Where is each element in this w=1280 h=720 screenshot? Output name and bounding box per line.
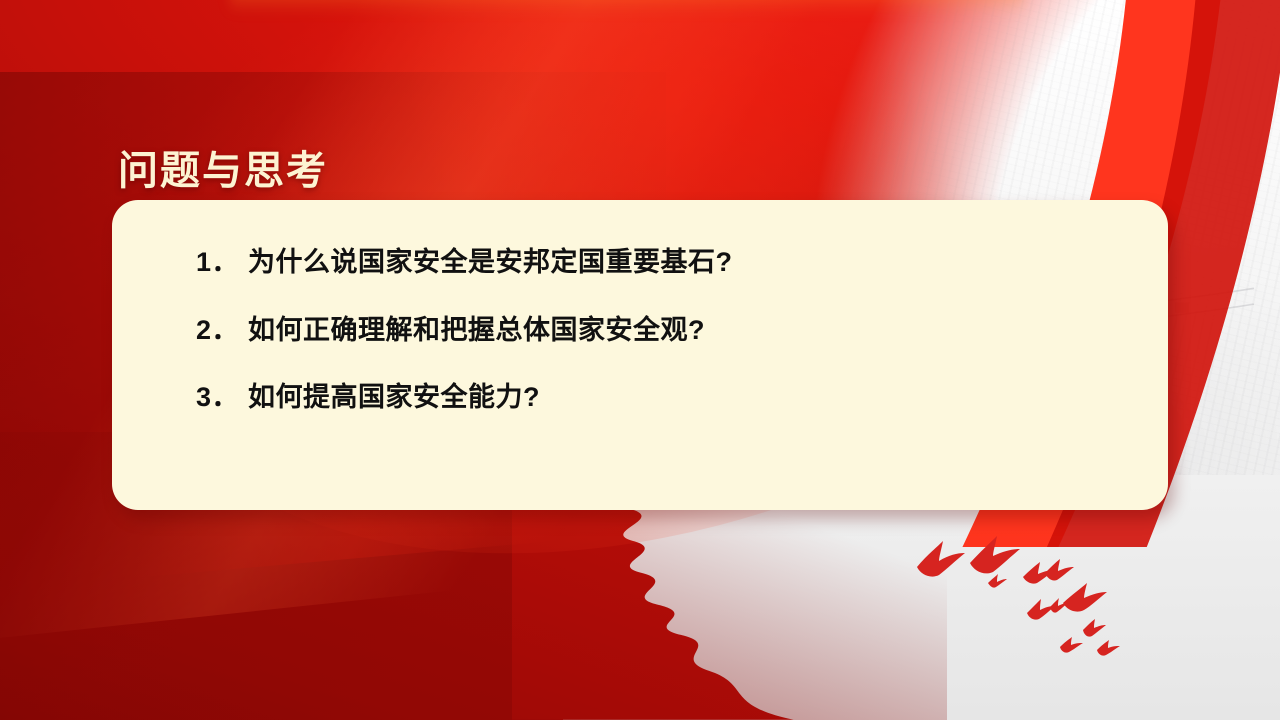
bird-icon (1063, 583, 1107, 612)
bird-icon (917, 541, 965, 577)
list-item-text: 为什么说国家安全是安邦定国重要基石? (248, 248, 1128, 278)
list-item: 1． 为什么说国家安全是安邦定国重要基石? (196, 248, 1128, 278)
slide: 问题与思考 1． 为什么说国家安全是安邦定国重要基石? 2． 如何正确理解和把握… (0, 0, 1280, 720)
bird-icon (1045, 559, 1074, 581)
flying-birds-group (905, 525, 1195, 670)
bird-icon (1083, 619, 1106, 637)
list-item: 2． 如何正确理解和把握总体国家安全观? (196, 316, 1128, 346)
bird-icon (1097, 640, 1120, 656)
question-list: 1． 为什么说国家安全是安邦定国重要基石? 2． 如何正确理解和把握总体国家安全… (196, 248, 1128, 413)
list-item-text: 如何正确理解和把握总体国家安全观? (248, 316, 1128, 346)
list-item-number: 3． (196, 383, 248, 413)
page-title: 问题与思考 (118, 138, 328, 196)
list-item-text: 如何提高国家安全能力? (248, 383, 1128, 413)
bird-icon (988, 574, 1007, 588)
bird-icon (970, 536, 1020, 573)
list-item-number: 1． (196, 248, 248, 278)
bird-icon (1060, 637, 1083, 653)
list-item-number: 2． (196, 316, 248, 346)
list-item: 3． 如何提高国家安全能力? (196, 383, 1128, 413)
question-card: 1． 为什么说国家安全是安邦定国重要基石? 2． 如何正确理解和把握总体国家安全… (112, 200, 1168, 510)
brush-torn-edge (512, 475, 794, 720)
bird-icon (1027, 599, 1055, 620)
